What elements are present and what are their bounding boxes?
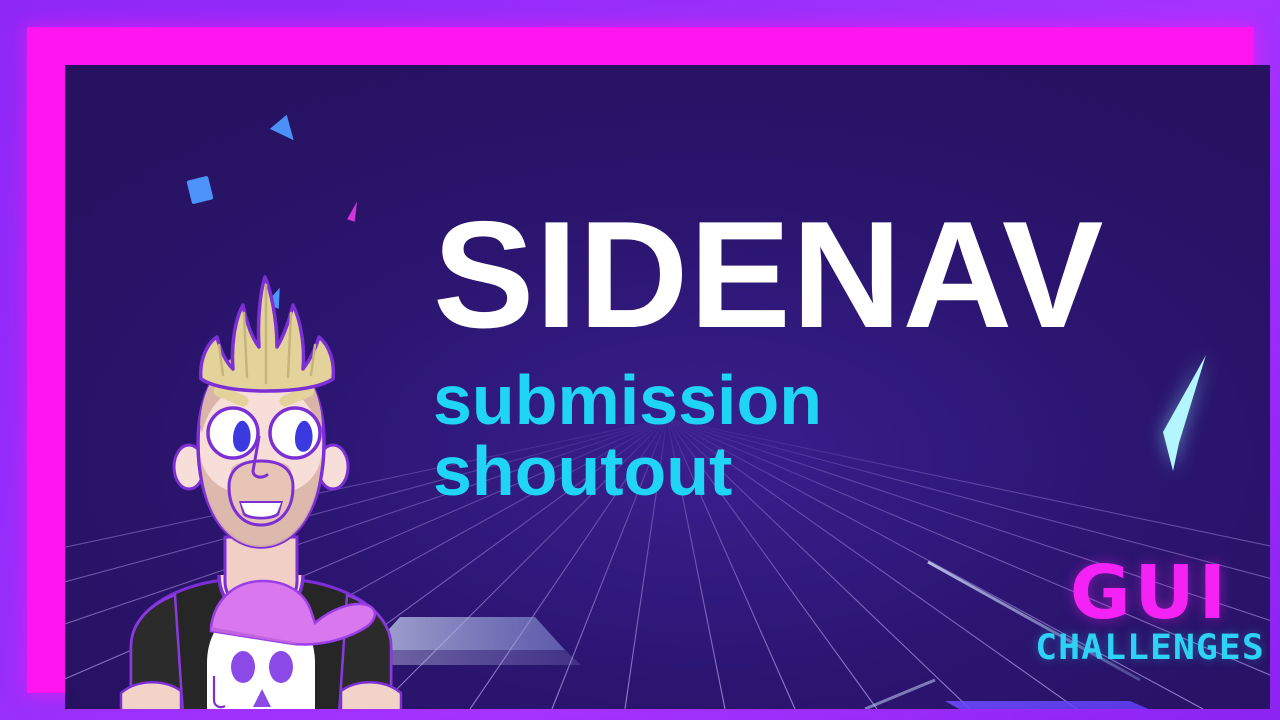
page-subtitle: submission shoutout [433, 349, 953, 508]
gui-challenges-logo: GUI CHALLENGES [1005, 559, 1270, 666]
title-block: SIDENAV submission shoutout [433, 203, 1233, 508]
neon-frame-border: SIDENAV submission shoutout GUI CHALLENG… [27, 27, 1254, 693]
slide-canvas: SIDENAV submission shoutout GUI CHALLENG… [0, 0, 1280, 720]
avatar-hair-mohawk [201, 277, 334, 391]
avatar [101, 275, 431, 709]
logo-secondary-text: CHALLENGES [999, 627, 1270, 666]
content-panel: SIDENAV submission shoutout GUI CHALLENG… [65, 65, 1270, 709]
grid-tile-right [945, 701, 1255, 709]
grid-streak-right-3 [865, 680, 935, 709]
page-title: SIDENAV [433, 203, 1233, 349]
page-subtitle-line-2: shoutout [433, 436, 953, 507]
page-subtitle-line-1: submission [433, 365, 953, 436]
logo-primary-text: GUI [1005, 559, 1270, 627]
